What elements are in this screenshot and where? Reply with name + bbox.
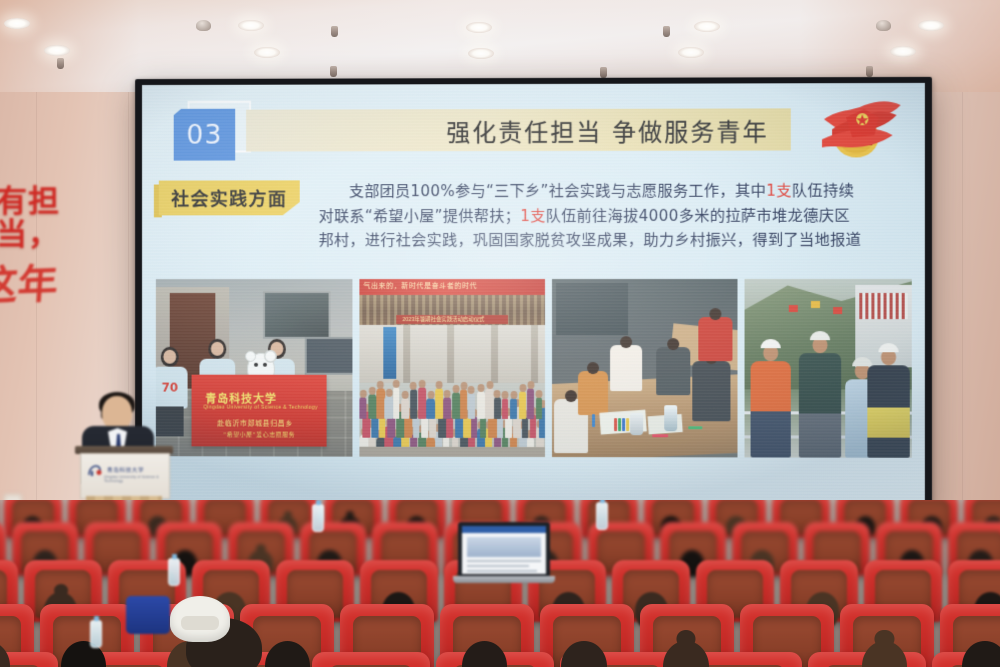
highlighted-text: 1支 <box>520 207 545 225</box>
ceiling-downlight <box>890 46 916 57</box>
projection-screen-frame: 03 强化责任担当 争做服务青年 <box>135 77 932 515</box>
water-bottle <box>90 620 102 648</box>
photo-person <box>522 417 529 438</box>
photo-person <box>385 396 394 419</box>
water-bottle <box>596 502 608 530</box>
webpage-hero-image <box>467 537 541 557</box>
backpack <box>126 596 170 634</box>
laptop[interactable] <box>458 522 550 586</box>
banner-subtitle: Qingdao University of Science & Technolo… <box>203 405 317 411</box>
photo-person <box>471 416 477 438</box>
slide-body-line: 邦村，进行社会实践，巩固国家脱贫攻坚成果，助力乡村振兴，得到了当地报道 <box>319 228 912 253</box>
photo-person <box>460 389 467 419</box>
webpage-text-line <box>467 565 529 567</box>
sprinkler-head <box>330 66 337 77</box>
ceiling-speaker <box>196 20 211 31</box>
ceiling-downlight <box>238 20 264 31</box>
body-text-segment: 对联系“希望小屋”提供帮扶； <box>319 207 521 225</box>
wall-seam <box>962 92 963 562</box>
laptop-webpage <box>462 526 546 574</box>
presentation-slide: 03 强化责任担当 争做服务青年 <box>142 83 925 509</box>
podium-org-name-en: Qingdao University of Science & Technolo… <box>104 475 169 483</box>
photo-top-banner-text: 气出来的，新时代是奋斗者的时代 <box>364 281 478 291</box>
photo-red-banner: 2023年暑期社会实践活动启动仪式 <box>397 315 508 324</box>
ceiling-downlight <box>468 48 494 59</box>
red-banner: 青岛科技大学 Qingdao University of Science & T… <box>192 375 327 447</box>
photo-children-drawing <box>552 279 737 457</box>
photo-person <box>393 387 400 419</box>
body-text-segment: 队伍前往海拔4000多米的拉萨市堆龙德庆区 <box>546 206 850 224</box>
body-text-segment: 队伍持续 <box>792 182 854 200</box>
photo-person <box>468 393 474 419</box>
body-text-segment: 邦村，进行社会实践，巩固国家脱贫攻坚成果，助力乡村振兴，得到了当地报道 <box>319 231 862 249</box>
sprinkler-head <box>663 26 670 37</box>
subtitle-tag-label: 社会实践方面 <box>171 185 287 211</box>
body-text-segment: 支部团员100%参与“三下乡”社会实践与志愿服务工作，其中 <box>349 182 766 201</box>
ceiling-downlight <box>694 21 720 32</box>
water-bottle <box>312 504 324 532</box>
webpage-text-line <box>467 570 537 572</box>
photo-person <box>494 397 502 419</box>
photo-students-banner: 70 70 70 <box>156 279 353 457</box>
photo-person <box>452 392 460 419</box>
photo-person <box>535 397 542 419</box>
slide-body-text: 支部团员100%参与“三下乡”社会实践与志愿服务工作，其中1支队伍持续对联系“希… <box>319 178 912 253</box>
photo-person <box>510 397 517 418</box>
ceiling-downlight <box>678 47 704 58</box>
photo-group-tibetan-school: 气出来的，新时代是奋斗者的时代 2023年暑期社会实践活动启动仪式 <box>360 279 546 457</box>
laptop-base <box>453 576 555 583</box>
projection-screen: 03 强化责任担当 争做服务青年 <box>142 83 925 509</box>
water-bottle <box>168 558 180 586</box>
ceiling-downlight <box>4 18 30 29</box>
sprinkler-head <box>866 66 873 77</box>
subtitle-tag: 社会实践方面 <box>159 180 300 215</box>
photo-person <box>480 416 486 438</box>
photo-person <box>413 417 420 438</box>
audience-member-white-cap <box>170 596 230 642</box>
wall-seam <box>36 92 37 562</box>
podium-org-name: 青岛科技大学 <box>107 466 144 474</box>
laptop-screen <box>458 522 550 578</box>
sprinkler-head <box>331 26 338 37</box>
photo-person <box>485 388 494 419</box>
webpage-text-line <box>467 560 541 562</box>
webpage-header <box>462 526 546 533</box>
ceiling-downlight <box>254 47 280 58</box>
highlighted-text: 1支 <box>766 182 792 200</box>
ceiling-downlight <box>466 22 492 33</box>
wall-calligraphy-line1: 有担当， <box>0 186 112 251</box>
ceiling-downlight <box>44 45 70 56</box>
sprinkler-head <box>57 58 64 69</box>
photo-person <box>401 397 409 418</box>
slide-body-line: 支部团员100%参与“三下乡”社会实践与志愿服务工作，其中1支队伍持续 <box>319 178 912 203</box>
audience-area <box>0 500 1000 667</box>
ceiling-downlight <box>918 20 944 31</box>
photo-person <box>502 398 508 419</box>
sprinkler-head <box>600 67 607 78</box>
photo-person <box>435 387 444 418</box>
photo-person <box>519 391 527 419</box>
section-number-label: 03 <box>186 119 222 150</box>
photo-person <box>446 417 453 438</box>
photo-person <box>368 394 376 419</box>
photo-top-banner: 气出来的，新时代是奋斗者的时代 <box>360 279 546 295</box>
presenter-head <box>102 396 132 430</box>
photo-person <box>527 388 534 419</box>
ceiling-speaker <box>876 20 891 31</box>
slide-title-bar: 强化责任担当 争做服务青年 <box>246 108 791 151</box>
photo-person <box>426 397 434 418</box>
badge-tag-shape: 03 <box>174 109 235 161</box>
banner-line4: “希望小屋”爱心志愿服务 <box>223 429 295 438</box>
section-number-badge: 03 <box>174 107 237 159</box>
wall-calligraphy-line2: 这年 <box>0 250 110 313</box>
photo-person <box>477 391 486 419</box>
slide-title: 强化责任担当 争做服务青年 <box>446 112 768 148</box>
slide-body-line: 对联系“希望小屋”提供帮扶；1支队伍前往海拔4000多米的拉萨市堆龙德庆区 <box>319 203 912 228</box>
photo-red-banner-text: 2023年暑期社会实践活动启动仪式 <box>403 315 485 323</box>
photo-person <box>360 397 367 419</box>
qust-logo <box>87 464 103 478</box>
photo-person <box>443 397 450 419</box>
photo-tibetan-children <box>744 279 912 458</box>
photo-strip: 70 70 70 <box>156 279 912 458</box>
communist-youth-league-emblem <box>804 95 905 168</box>
photo-person <box>410 389 418 419</box>
photo-person <box>418 387 426 419</box>
banner-line3: 赴临沂市郯城县归昌乡 <box>217 419 292 429</box>
podium-front-panel: 青岛科技大学 Qingdao University of Science & T… <box>80 453 170 499</box>
auditorium-screenshot: 有担当， 这年 03 强化责任担当 争做服务青年 <box>0 0 1000 667</box>
auditorium-seat[interactable] <box>312 652 430 667</box>
